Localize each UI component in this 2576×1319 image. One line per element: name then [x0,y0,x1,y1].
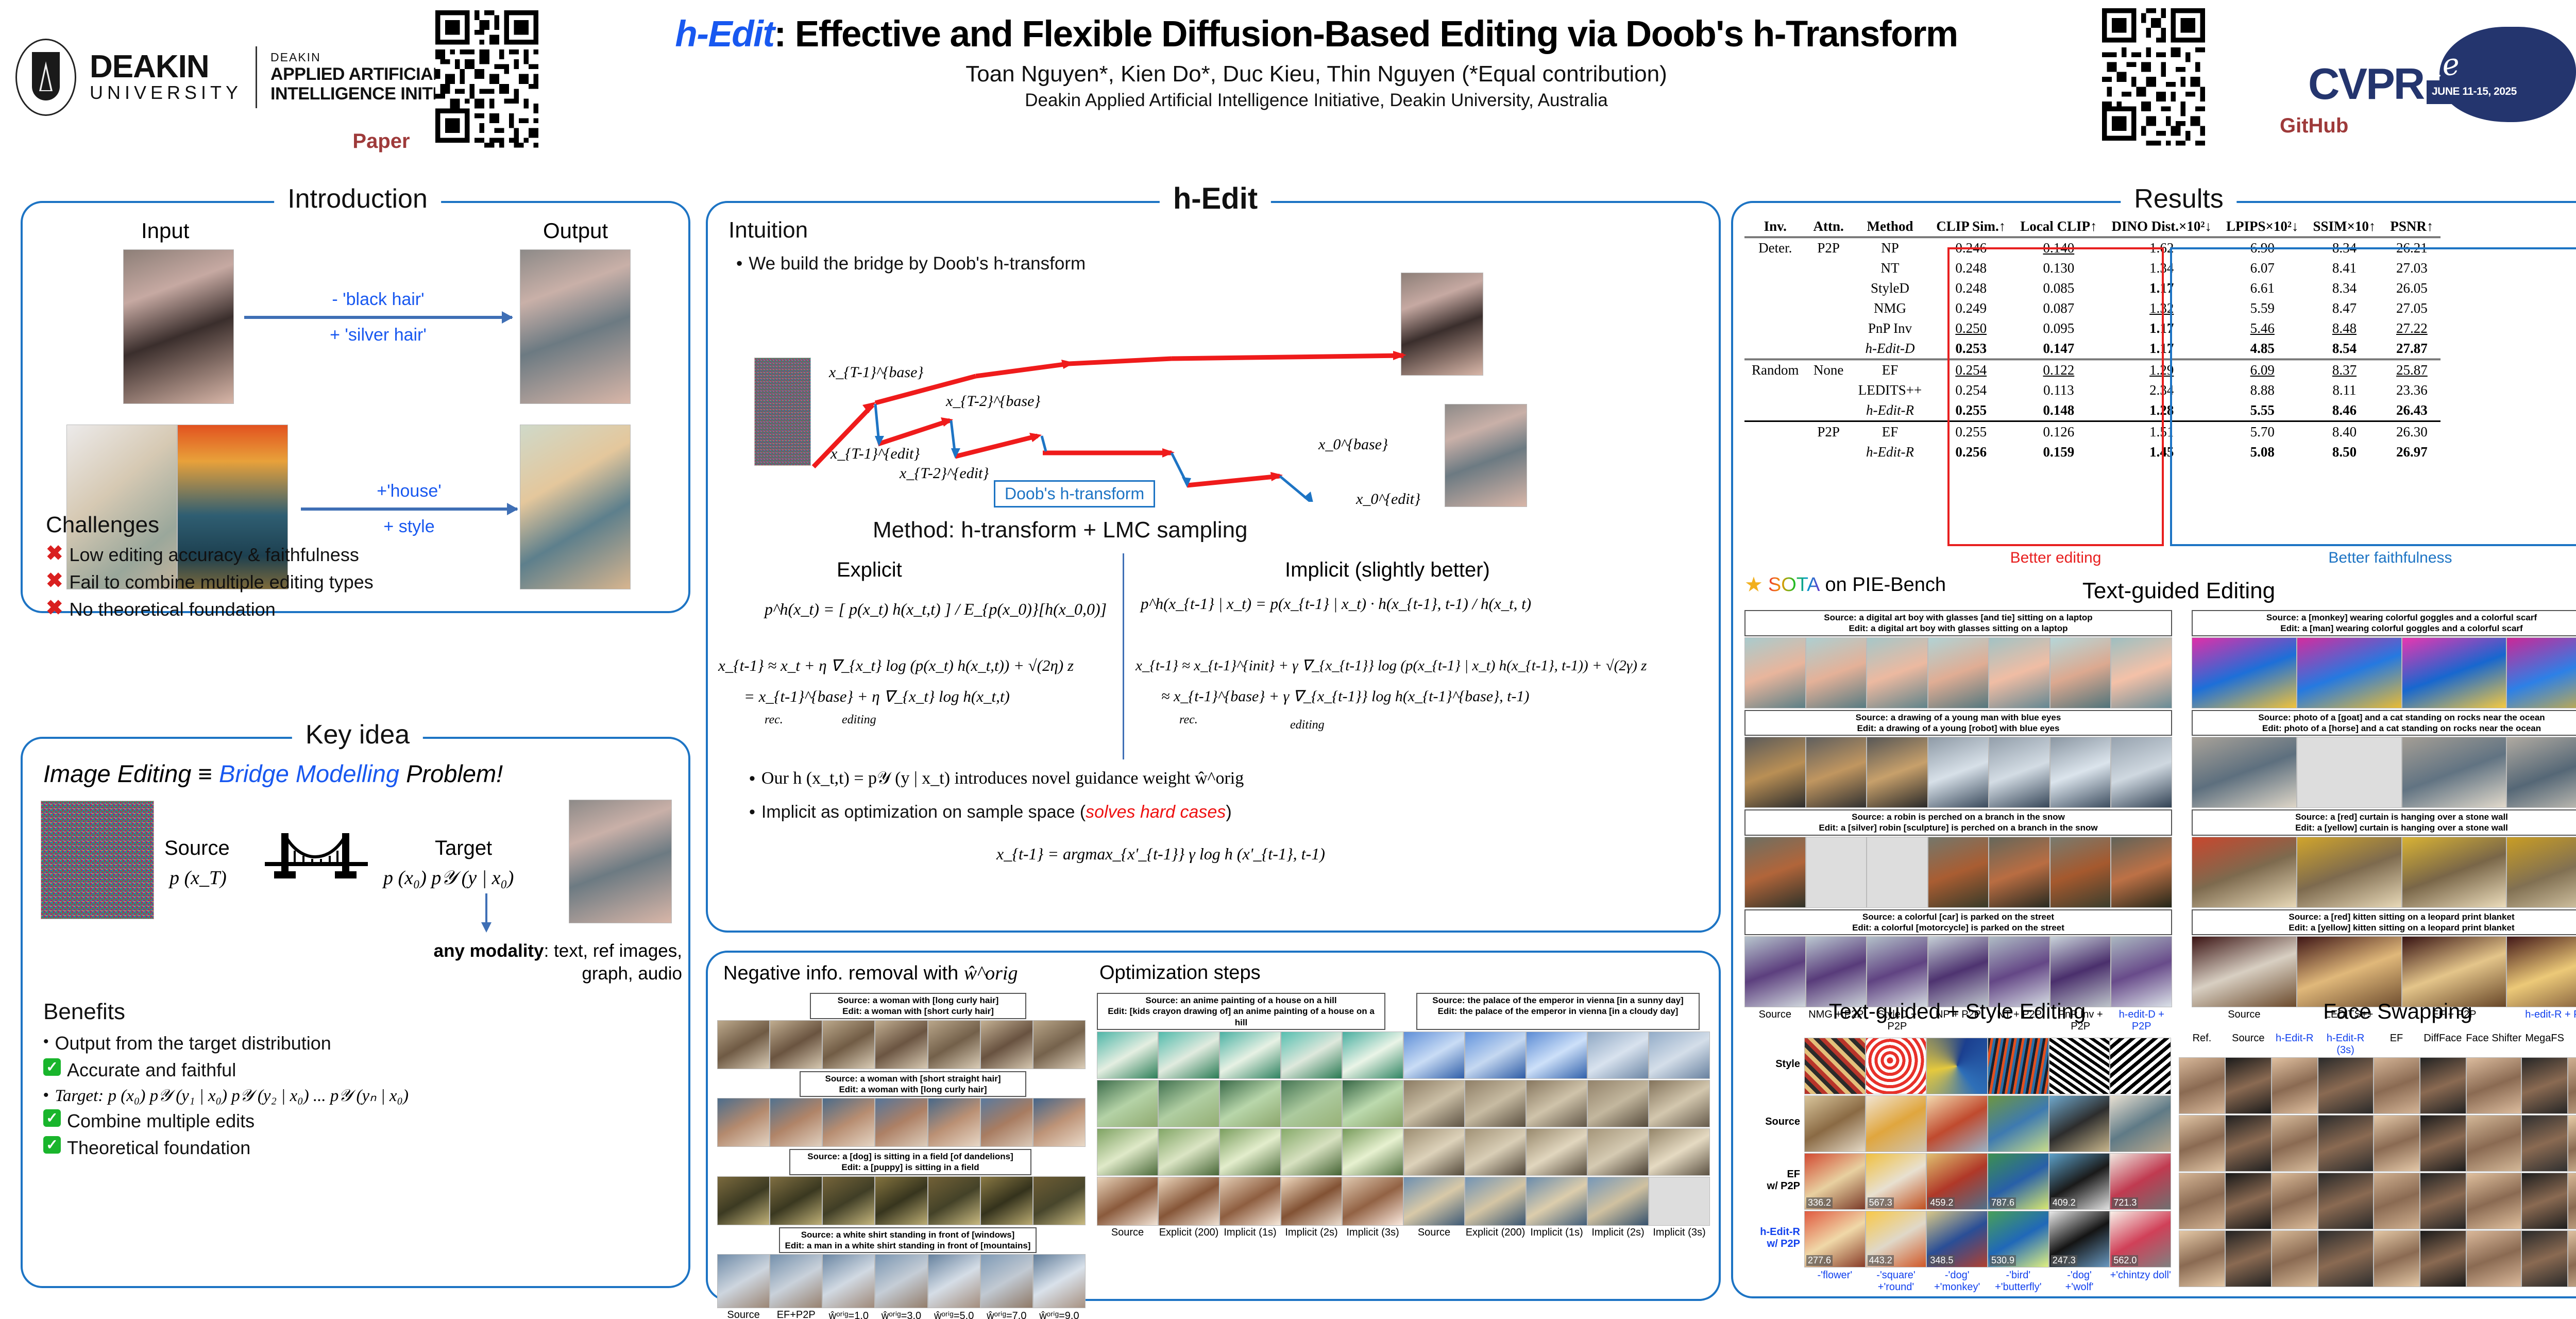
table-cell-inv [1744,298,1806,318]
face-image [2466,1057,2522,1114]
bullet2-part-b: ) [1226,802,1231,822]
better-faithfulness-box [2170,247,2576,546]
method-bullet-1-text: Our h (x_t,t) = p𝒴 (y | x_t) introduces … [761,767,1244,790]
row-label: Source [1743,1095,1804,1152]
face-image [2225,1115,2272,1172]
col-label: Implicit (1s) [1526,1227,1587,1239]
image-row [1744,936,2172,1007]
style-row-source: Source [1743,1095,2171,1152]
image-row [1097,1080,1710,1127]
image-row [2192,737,2576,808]
image-row [1097,1031,1710,1079]
modality-text: any modality: text, ref images, graph, a… [394,940,682,985]
deakin-name: DEAKIN [90,52,242,82]
text-guided-right-grid: Source: a [monkey] wearing colorful gogg… [2192,610,2576,1021]
image-row [1097,1128,1710,1176]
opt-caption-row: Source: an anime painting of a house on … [1097,993,1710,1030]
opt-steps-heading: Optimization steps [1099,962,1261,984]
neg-removal-grid: Source: a woman with [long curly hair] E… [717,993,1086,1319]
label-x-T2-edit: x_{T-2}^{edit} [900,465,989,482]
face-image [2374,1115,2420,1172]
text-guided-heading: Text-guided Editing [1733,578,2576,604]
col-label: Implicit (3s) [1649,1227,1710,1239]
edit1-minus-label: - 'black hair' [244,290,512,310]
grid-caption: Source: a [red] curtain is hanging over … [2192,809,2576,836]
image-row [2179,1115,2576,1172]
check-icon: ✓ [43,1136,61,1154]
th-inv: Inv. [1744,216,1806,238]
label-x-0-base: x_0^{base} [1318,436,1388,453]
table-cell-inv [1744,421,1806,443]
face-image [2272,1115,2318,1172]
bottom-mid-panel: Negative info. removal with ŵ^orig Optim… [706,951,1721,1301]
challenges-list: ✖ Low editing accuracy & faithfulness ✖ … [46,543,374,621]
challenge-item: ✖ No theoretical foundation [46,598,374,622]
col-label: Source [1403,1227,1465,1239]
face-swapping-grid: Ref. Source h-Edit-R h-Edit-R (3s) EF Di… [2179,1033,2576,1287]
col-label: Implicit (2s) [1281,1227,1342,1239]
score-badge: 348.5 [1928,1255,1955,1266]
table-cell-attn [1806,258,1851,278]
col-label: Explicit (200) [1158,1227,1219,1239]
table-cell-attn: P2P [1806,238,1851,259]
implicit-brace-rec: rec. [1179,713,1198,727]
face-image [2466,1173,2522,1229]
deakin-logo: DEAKIN UNIVERSITY DEAKIN APPLIED ARTIFIC… [15,39,486,116]
benefit-text: Theoretical foundation [67,1136,250,1160]
face-image [2225,1173,2272,1229]
table-cell-attn [1806,278,1851,298]
score-badge: 530.9 [1990,1255,2016,1266]
col-label: -'square' +'round' [1866,1270,1927,1293]
grid-caption: Source: a [dog] is sitting in a field [o… [789,1149,1031,1175]
better-editing-caption: Better editing [1947,549,2164,567]
challenge-text: Low editing accuracy & faithfulness [70,543,359,567]
grid-caption: Source: a woman with [long curly hair] E… [810,993,1026,1019]
github-qr-code[interactable] [2102,7,2205,154]
benefit-item: • Output from the target distribution [43,1031,409,1056]
modality-bold: any modality [434,941,544,961]
benefit-item: ✓ Accurate and faithful [43,1058,409,1083]
key-idea-title: Key idea [292,719,423,750]
implicit-eq2: x_{t-1} ≈ x_{t-1}^{init} + γ ∇_{x_{t-1}}… [1136,656,1647,674]
face-image [2568,1115,2576,1172]
bullet-icon: • [43,1031,49,1052]
paper-qr-code[interactable] [435,9,538,156]
col-label: ŵᵒʳⁱᵍ=3.0 [875,1309,927,1319]
face-image [2225,1057,2272,1114]
face-image [2521,1173,2568,1229]
image-row [1744,637,2172,708]
benefit-text: Accurate and faithful [67,1058,236,1083]
table-cell-method: EF [1851,421,1929,443]
target-label: Target [435,837,492,860]
explicit-brace-editing: editing [842,713,876,727]
face-image [2521,1115,2568,1172]
table-cell-method: StyleD [1851,278,1929,298]
face-image [2568,1057,2576,1114]
statement-part-c: Problem! [399,760,503,787]
score-badge: 459.2 [1928,1197,1955,1208]
implicit-eq1: p^h(x_{t-1} | x_t) = p(x_{t-1} | x_t) · … [1141,595,1531,613]
score-badge: 567.3 [1868,1197,1894,1208]
face-image [2318,1115,2374,1172]
face-image [2420,1057,2466,1114]
title-rest: : Effective and Flexible Diffusion-Based… [774,14,1958,55]
source-formula: p (x_T) [170,867,227,889]
score-badge: 787.6 [1990,1197,2016,1208]
introduction-panel: Introduction Input Output - 'black hair'… [21,201,690,613]
th-method: Method [1851,216,1929,238]
image-row [2192,637,2576,708]
col-label: Explicit (200) [1465,1227,1526,1239]
table-cell-inv [1744,380,1806,400]
better-faithfulness-caption: Better faithfulness [2170,549,2576,567]
bullet-icon: • [43,1085,49,1105]
title-hedit: h-Edit [675,14,774,55]
face-image [2272,1173,2318,1229]
col-label: h-Edit-R [2272,1033,2318,1056]
col-label: Implicit (2s) [1587,1227,1649,1239]
doob-callout: Doob's h-transform [994,480,1155,508]
score-badge: 247.3 [2051,1255,2077,1266]
table-cell-method: h-Edit-R [1851,400,1929,421]
style-editing-grid: Style Source [1743,1038,2171,1293]
benefit-text: Output from the target distribution [55,1031,331,1056]
th-local-clip: Local CLIP↑ [2013,216,2104,238]
label-x-T1-edit: x_{T-1}^{edit} [831,445,920,463]
face-image [2374,1173,2420,1229]
challenges-heading: Challenges [46,512,159,538]
face-image [2521,1230,2568,1287]
th-clip: CLIP Sim.↑ [1929,216,2013,238]
table-cell-method: h-Edit-D [1851,339,1929,360]
table-cell-attn [1806,400,1851,421]
image-row [1744,737,2172,808]
modality-arrow [476,893,497,935]
paper-qr-label: Paper [330,130,433,153]
face-image [2521,1057,2568,1114]
method-divider [1123,553,1124,759]
col-label: Implicit (3s) [1342,1227,1403,1239]
face-image [2318,1230,2374,1287]
intro-output-doll-styled [520,425,631,589]
neg-heading-text: Negative info. removal with [723,962,964,984]
edit2-arrow [301,508,517,511]
col-label: ŵᵒʳⁱᵍ=9.0 [1033,1309,1086,1319]
face-image [2179,1230,2225,1287]
key-idea-panel: Key idea Image Editing ≡ Bridge Modellin… [21,737,690,1288]
col-label: MegaFS [2521,1033,2568,1056]
cvpr-date: JUNE 11-15, 2025 [2432,86,2517,98]
logo-divider [256,46,257,108]
face-image [2374,1230,2420,1287]
table-cell-attn [1806,380,1851,400]
opt-col-labels: Source Explicit (200) Implicit (1s) Impl… [1097,1227,1710,1239]
statement-bridge: Bridge Modelling [219,760,399,787]
score-badge: 409.2 [2051,1197,2077,1208]
statement-part-a: Image Editing ≡ [43,760,219,787]
grid-caption: Source: a white shirt standing in front … [779,1227,1037,1254]
intuition-bullet-text: We build the bridge by Doob's h-transfor… [749,252,1086,276]
style-row-ef: EF w/ P2P 336.2 567.3 459.2 787.6 409.2 … [1743,1153,2171,1210]
col-label: ŵᵒʳⁱᵍ=1.0 [822,1309,875,1319]
table-cell-method: NT [1851,258,1929,278]
score-badge: 277.6 [1806,1255,1833,1266]
grid-caption: Source: a woman with [short straight hai… [800,1071,1026,1097]
explicit-eq3: = x_{t-1}^{base} + η ∇_{x_t} log h(x_t,t… [744,687,1010,706]
grid-caption: Source: photo of a [goat] and a cat stan… [2192,710,2576,736]
challenge-item: ✖ Low editing accuracy & faithfulness [46,543,374,567]
table-cell-method: PnP Inv [1851,318,1929,339]
face-image [2225,1230,2272,1287]
text-guided-left-grid: Source: a digital art boy with glasses [… [1744,610,2172,1033]
implicit-heading: Implicit (slightly better) [1285,559,1490,582]
style-row-style: Style [1743,1038,2171,1094]
table-cell-method: NP [1851,238,1929,259]
method-bullet-1: • Our h (x_t,t) = p𝒴 (y | x_t) introduce… [749,767,1244,790]
col-label: Implicit (1s) [1219,1227,1281,1239]
score-badge: 336.2 [1806,1197,1833,1208]
table-cell-inv [1744,400,1806,421]
image-row [2192,936,2576,1007]
intro-output-portrait [520,249,631,404]
target-portrait-image [569,800,672,923]
argmax-equation: x_{t-1} = argmax_{x'_{t-1}} γ log h (x'_… [996,844,1325,864]
score-badge: 562.0 [2112,1255,2138,1266]
label-x-T1-base: x_{T-1}^{base} [829,364,923,381]
bullet2-part-a: Implicit as optimization on sample space… [761,802,1086,822]
image-row [2179,1230,2576,1287]
face-image [2374,1057,2420,1114]
deakin-shield-icon [15,39,76,116]
poster-root: DEAKIN UNIVERSITY DEAKIN APPLIED ARTIFIC… [0,0,2576,1319]
neg-removal-heading: Negative info. removal with ŵ^orig [723,962,1018,985]
col-label: +'chintzy doll' [2110,1270,2171,1293]
grid-caption: Source: a digital art boy with glasses [… [1744,610,2172,636]
results-panel: Results Inv. Attn. Method CLIP Sim.↑ Loc… [1731,201,2576,1298]
intuition-bullet: • We build the bridge by Doob's h-transf… [736,252,1086,276]
th-attn: Attn. [1806,216,1851,238]
affiliation: Deakin Applied Artificial Intelligence I… [556,90,2076,111]
cvpr-wordmark: CVPR [2308,59,2424,110]
output-column-label: Output [543,218,608,243]
page-title: h-Edit: Effective and Flexible Diffusion… [556,15,2076,54]
source-noise-image [41,801,154,919]
table-cell-method: EF [1851,360,1929,381]
introduction-title: Introduction [274,183,441,214]
face-swapping-heading: Face Swapping [2176,999,2576,1024]
github-qr-label: GitHub [2280,114,2348,138]
diagram-paths [708,275,1723,502]
grid-caption: Source: a robin is perched on a branch i… [1744,809,2172,836]
bullet-icon: • [749,767,755,790]
th-psnr: PSNR↑ [2383,216,2441,238]
th-dino: DINO Dist.×10²↓ [2105,216,2219,238]
image-row [1744,837,2172,908]
x-icon: ✖ [46,543,63,564]
bullet2-red: solves hard cases [1086,802,1226,822]
bullet-icon: • [736,252,742,276]
row-label: EF w/ P2P [1743,1153,1804,1210]
benefits-heading: Benefits [43,999,125,1025]
table-cell-inv: Deter. [1744,238,1806,259]
edit2-plus1-label: +'house' [301,481,517,501]
key-idea-statement: Image Editing ≡ Bridge Modelling Problem… [43,759,503,788]
style-editing-heading: Text-guided + Style Editing [1743,999,2171,1024]
table-cell-attn: P2P [1806,421,1851,443]
benefit-text: Target: p (x₀) p𝒴 (y₁ | x₀) p𝒴 (y₂ | x₀)… [55,1085,409,1107]
col-label: ŵᵒʳⁱᵍ=5.0 [928,1309,980,1319]
table-cell-method: h-Edit-R [1851,442,1929,462]
authors: Toan Nguyen*, Kien Do*, Duc Kieu, Thin N… [556,61,2076,87]
style-row-hedit: h-Edit-R w/ P2P 277.6 443.2 348.5 530.9 … [1743,1211,2171,1267]
col-label: ŵᵒʳⁱᵍ=7.0 [980,1309,1033,1319]
face-image [2179,1115,2225,1172]
title-block: h-Edit: Effective and Flexible Diffusion… [556,15,2076,111]
face-col-labels: Ref. Source h-Edit-R h-Edit-R (3s) EF Di… [2179,1033,2576,1056]
table-cell-inv [1744,442,1806,462]
modality-rest: : text, ref images, graph, audio [544,941,682,984]
benefit-text: Combine multiple edits [67,1109,255,1134]
table-cell-attn [1806,339,1851,360]
image-row [2179,1057,2576,1114]
th-ssim: SSIM×10↑ [2306,216,2383,238]
face-image [2179,1173,2225,1229]
neg-heading-weight: ŵ^orig [964,962,1018,984]
better-editing-box [1947,247,2164,546]
table-cell-attn [1806,442,1851,462]
style-col-labels: -'flower' -'square' +'round' -'dog' +'mo… [1743,1270,2171,1293]
face-image [2420,1173,2466,1229]
edit1-plus-label: + 'silver hair' [244,325,512,345]
face-image [2466,1230,2522,1287]
intro-input-portrait [123,249,234,404]
challenge-text: Fail to combine multiple editing types [70,570,374,595]
col-label: EF+P2P [770,1309,822,1319]
col-label: Source [1097,1227,1158,1239]
neg-col-labels: Source EF+P2P ŵᵒʳⁱᵍ=1.0 ŵᵒʳⁱᵍ=3.0 ŵᵒʳⁱᵍ=… [717,1309,1086,1319]
face-image [2272,1230,2318,1287]
col-label: -'dog' +'monkey' [1926,1270,1988,1293]
score-badge: 721.3 [2112,1197,2138,1208]
explicit-heading: Explicit [837,559,902,582]
image-row [2192,837,2576,908]
target-formula: p (x₀) p𝒴 (y | x₀) [383,867,514,889]
image-row [717,1254,1086,1308]
x-icon: ✖ [46,598,63,618]
face-image [2420,1115,2466,1172]
col-label: EF [2374,1033,2420,1056]
face-image [2420,1230,2466,1287]
check-icon: ✓ [43,1109,61,1127]
label-x-0-edit: x_0^{edit} [1356,491,1420,508]
face-image [2179,1057,2225,1114]
face-rows [2179,1057,2576,1287]
bridge-icon [265,824,368,886]
grid-caption: Source: an anime painting of a house on … [1097,993,1385,1030]
col-label: AFS [2568,1033,2576,1056]
challenge-item: ✖ Fail to combine multiple editing types [46,570,374,595]
face-image [2568,1230,2576,1287]
method-heading: Method: h-transform + LMC sampling [873,517,1248,543]
face-image [2318,1173,2374,1229]
explicit-eq2: x_{t-1} ≈ x_t + η ∇_{x_t} log (p(x_t) h(… [718,656,1074,675]
table-cell-inv: Random [1744,360,1806,381]
implicit-heading-text: Implicit (slightly better) [1285,559,1490,581]
table-cell-attn [1806,318,1851,339]
deakin-university: UNIVERSITY [90,82,242,103]
col-label: -'flower' [1804,1270,1866,1293]
grid-caption: Source: a drawing of a young man with bl… [1744,710,2172,736]
method-bullet-2-text: Implicit as optimization on sample space… [761,801,1232,823]
row-label: Style [1743,1038,1804,1094]
face-image [2272,1057,2318,1114]
table-cell-method: LEDITS++ [1851,380,1929,400]
col-label: Ref. [2179,1033,2225,1056]
face-image [2318,1057,2374,1114]
image-row [717,1098,1086,1147]
explicit-brace-rec: rec. [765,713,783,727]
col-label: h-Edit-R (3s) [2318,1033,2374,1056]
th-lpips: LPIPS×10²↓ [2219,216,2306,238]
col-label: Source [2225,1033,2272,1056]
row-label: h-Edit-R w/ P2P [1743,1211,1804,1267]
x-icon: ✖ [46,570,63,591]
hedit-title: h-Edit [1160,181,1271,216]
image-row [717,1020,1086,1069]
table-cell-inv [1744,339,1806,360]
grid-caption: Source: the palace of the emperor in vie… [1416,993,1700,1030]
results-title: Results [2121,183,2236,214]
table-cell-inv [1744,258,1806,278]
image-row [2179,1173,2576,1229]
table-cell-inv [1744,318,1806,339]
table-header-row: Inv. Attn. Method CLIP Sim.↑ Local CLIP↑… [1744,216,2441,238]
table-cell-inv [1744,278,1806,298]
check-icon: ✓ [43,1058,61,1076]
benefit-item: • Target: p (x₀) p𝒴 (y₁ | x₀) p𝒴 (y₂ | x… [43,1085,409,1107]
face-image [2466,1115,2522,1172]
benefits-list: • Output from the target distribution ✓ … [43,1031,409,1160]
col-label: -'dog' +'wolf' [2049,1270,2110,1293]
edit1-arrow [244,316,512,319]
image-row [1097,1177,1710,1226]
opt-steps-grid: Source: an anime painting of a house on … [1097,993,1710,1239]
col-label: Face Shifter [2466,1033,2521,1056]
intuition-diagram: x_{T-1}^{base} x_{T-1}^{edit} x_{T-2}^{b… [708,275,1723,502]
label-x-T2-base: x_{T-2}^{base} [946,393,1040,410]
grid-caption: Source: a [red] kitten sitting on a leop… [2192,909,2576,936]
image-row [717,1176,1086,1225]
hedit-panel: h-Edit Intuition • We build the bridge b… [706,201,1721,933]
input-column-label: Input [141,218,189,243]
benefit-item: ✓ Theoretical foundation [43,1136,409,1160]
intuition-heading: Intuition [728,217,808,243]
benefit-item: ✓ Combine multiple edits [43,1109,409,1134]
implicit-brace-editing: editing [1290,718,1325,732]
table-cell-attn: None [1806,360,1851,381]
explicit-eq1: p^h(x_t) = [ p(x_t) h(x_t,t) ] / E_{p(x_… [765,600,1107,619]
col-label: Source [717,1309,770,1319]
col-label: DiffFace [2419,1033,2466,1056]
source-label: Source [164,837,230,860]
method-bullet-2: • Implicit as optimization on sample spa… [749,801,1232,823]
col-label: -'bird' +'butterfly' [1988,1270,2049,1293]
poster-header: DEAKIN UNIVERSITY DEAKIN APPLIED ARTIFIC… [0,0,2576,170]
grid-caption: Source: a colorful [car] is parked on th… [1744,909,2172,936]
edit2-plus2-label: + style [301,517,517,537]
